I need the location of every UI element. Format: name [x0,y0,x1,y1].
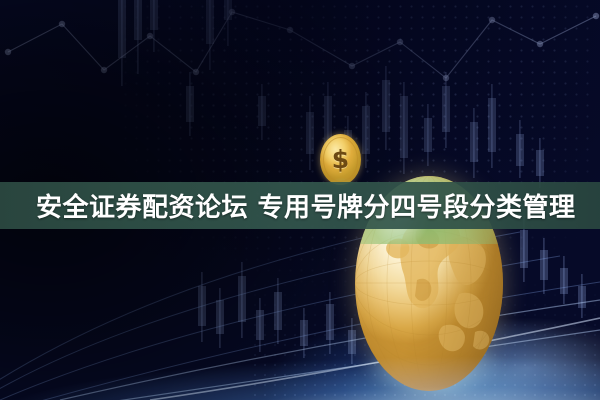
dollar-sign-icon: $ [332,147,349,172]
gold-dollar-coin: $ [320,134,361,185]
headline-text: 安全证券配资论坛 专用号牌分四号段分类管理 [36,187,576,224]
banner-image: $ 安全证券配资论坛 专用号牌分四号段分类管理 [0,0,600,400]
headline-banner: 安全证券配资论坛 专用号牌分四号段分类管理 [0,182,600,229]
